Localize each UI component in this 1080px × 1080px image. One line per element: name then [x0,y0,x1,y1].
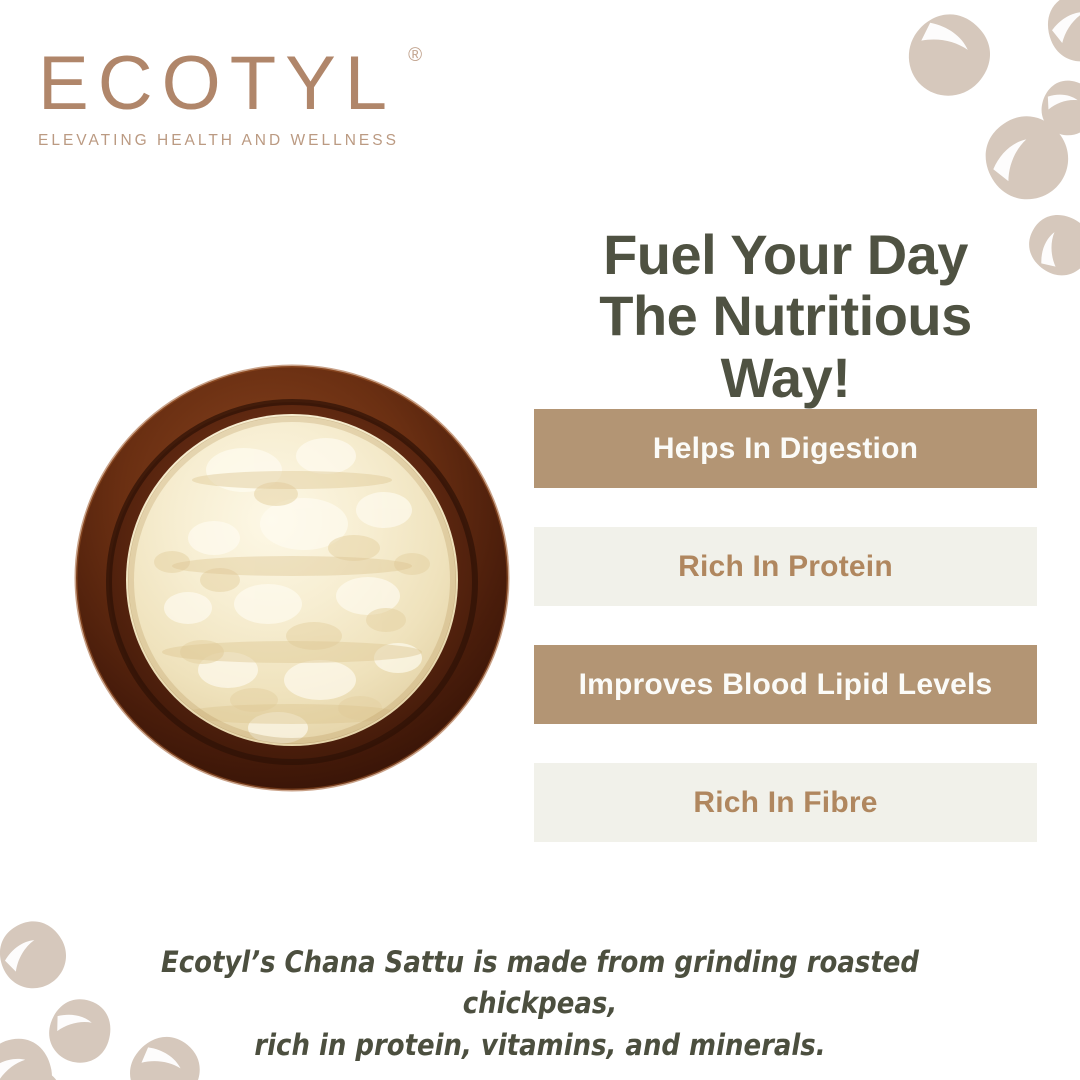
benefit-label: Helps In Digestion [653,432,918,466]
product-image-chana-sattu-bowl [68,352,516,800]
headline-line-3: Way! [534,347,1037,409]
registered-trademark-icon: ® [408,46,422,66]
benefits-list: Helps In Digestion Rich In Protein Impro… [534,409,1037,842]
leaf-icon [963,94,1080,222]
product-description: Ecotyl’s Chana Sattu is made from grindi… [135,942,945,1068]
benefit-item-4[interactable]: Rich In Fibre [534,763,1037,842]
page-title: Fuel Your Day The Nutritious Way! [534,224,1037,409]
leaf-icon [1030,70,1080,145]
logo-tagline: ELEVATING HEALTH AND WELLNESS [38,132,458,150]
benefit-label: Rich In Protein [678,550,893,584]
benefit-label: Rich In Fibre [693,786,877,820]
leaf-icon [1030,0,1080,78]
leaf-icon [0,1028,64,1080]
logo-wordmark-text: ECOTYL [38,41,396,126]
logo-wordmark: ECOTYL ® [38,44,396,124]
benefit-label: Improves Blood Lipid Levels [579,668,993,702]
headline-line-1: Fuel Your Day [534,224,1037,286]
benefit-item-1[interactable]: Helps In Digestion [534,409,1037,488]
leaf-icon [0,1052,77,1080]
leaf-icon [35,986,126,1077]
benefit-item-2[interactable]: Rich In Protein [534,527,1037,606]
brand-logo[interactable]: ECOTYL ® ELEVATING HEALTH AND WELLNESS [38,44,458,150]
leaf-icon [0,905,83,1005]
benefit-item-3[interactable]: Improves Blood Lipid Levels [534,645,1037,724]
headline-line-2: The Nutritious [534,285,1037,347]
caption-line-1: Ecotyl’s Chana Sattu is made from grindi… [135,942,945,1026]
caption-line-2: rich in protein, vitamins, and minerals. [135,1025,945,1067]
leaf-icon [895,2,1003,110]
promo-poster: ECOTYL ® ELEVATING HEALTH AND WELLNESS F… [0,0,1080,1080]
